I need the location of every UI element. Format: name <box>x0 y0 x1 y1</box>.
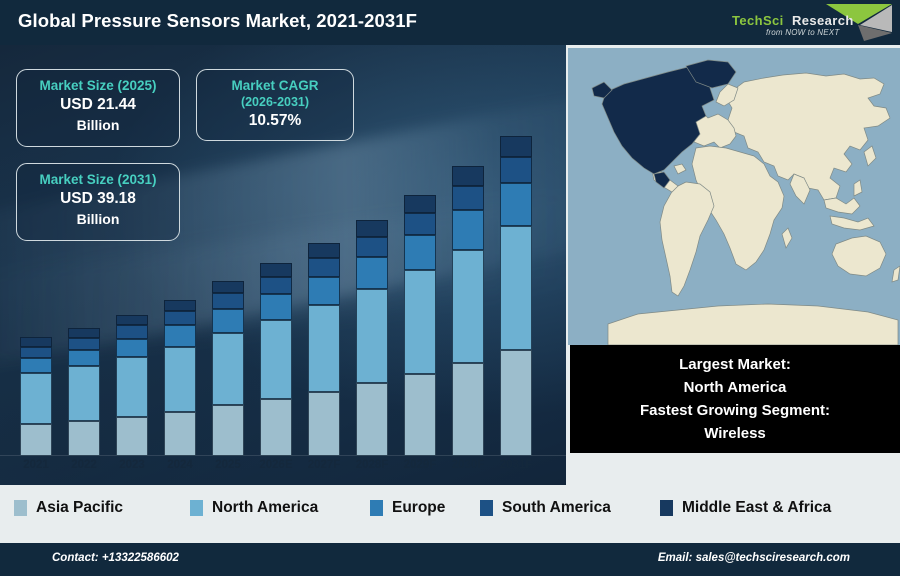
bar-segment-south-america <box>20 347 52 358</box>
legend-label: South America <box>502 499 611 517</box>
legend-item-europe[interactable]: Europe <box>370 499 445 517</box>
bar-segment-europe <box>116 339 148 358</box>
legend-label: Asia Pacific <box>36 499 123 517</box>
bar-segment-north-america <box>404 270 436 374</box>
bar-segment-south-america <box>116 325 148 338</box>
bar-segment-middle-east-africa <box>356 220 388 236</box>
fastest-segment-label: Fastest Growing Segment: <box>640 399 830 422</box>
bar-segment-south-america <box>452 186 484 210</box>
bar-segment-middle-east-africa <box>260 263 292 277</box>
logo-text-tech: TechSci <box>732 13 784 28</box>
bar-segment-south-america <box>260 277 292 294</box>
bar-segment-north-america <box>260 320 292 399</box>
bar-segment-north-america <box>68 366 100 421</box>
bar-segment-south-america <box>212 293 244 309</box>
highlights-box: Largest Market: North America Fastest Gr… <box>570 345 900 453</box>
bar-segment-north-america <box>164 347 196 412</box>
bar-segment-middle-east-africa <box>164 300 196 311</box>
page-title: Global Pressure Sensors Market, 2021-203… <box>18 10 417 32</box>
bar-2031F <box>500 136 532 456</box>
bar-segment-europe <box>356 257 388 289</box>
bar-segment-north-america <box>308 305 340 391</box>
bar-segment-middle-east-africa <box>308 243 340 258</box>
x-axis-label-2031F: 2031F <box>486 459 546 471</box>
largest-market-label: Largest Market: <box>679 353 791 376</box>
bar-2022 <box>68 328 100 456</box>
bar-2021 <box>20 337 52 456</box>
bar-segment-asia-pacific <box>20 424 52 456</box>
legend-label: Europe <box>392 499 445 517</box>
bar-segment-south-america <box>404 213 436 235</box>
bar-segment-europe <box>500 183 532 226</box>
bar-segment-middle-east-africa <box>116 315 148 326</box>
bar-segment-europe <box>212 309 244 333</box>
bar-segment-asia-pacific <box>68 421 100 456</box>
bar-segment-middle-east-africa <box>68 328 100 338</box>
bar-2030F <box>452 166 484 456</box>
bar-segment-europe <box>260 294 292 320</box>
legend-swatch-icon <box>370 500 383 516</box>
bar-segment-south-america <box>308 258 340 277</box>
bar-segment-north-america <box>452 250 484 363</box>
bar-2028F <box>356 220 388 456</box>
bar-segment-south-america <box>356 237 388 257</box>
bar-2024 <box>164 300 196 456</box>
world-map <box>568 48 900 345</box>
footer-bar: Contact: +13322586602 Email: sales@techs… <box>0 543 900 576</box>
bar-2026E <box>260 263 292 456</box>
bar-2027F <box>308 243 340 456</box>
world-map-svg <box>568 48 900 345</box>
bar-segment-south-america <box>68 338 100 350</box>
legend-item-south-america[interactable]: South America <box>480 499 611 517</box>
legend-label: Middle East & Africa <box>682 499 831 517</box>
footer-email: Email: sales@techsciresearch.com <box>658 552 850 564</box>
bar-2029F <box>404 195 436 456</box>
chart-panel: Market Size (2025) USD 21.44 Billion Mar… <box>0 45 566 485</box>
bar-segment-asia-pacific <box>308 392 340 456</box>
bar-segment-middle-east-africa <box>452 166 484 186</box>
bar-segment-asia-pacific <box>500 350 532 456</box>
bar-segment-north-america <box>20 373 52 424</box>
bar-segment-asia-pacific <box>212 405 244 456</box>
fastest-segment-value: Wireless <box>704 422 766 445</box>
header-bar: Global Pressure Sensors Market, 2021-203… <box>0 0 900 45</box>
techsci-research-logo: TechSci Research from NOW to NEXT <box>726 2 894 43</box>
bar-segment-asia-pacific <box>260 399 292 456</box>
bar-segment-middle-east-africa <box>20 337 52 347</box>
legend-label: North America <box>212 499 318 517</box>
bar-segment-asia-pacific <box>452 363 484 456</box>
bar-segment-middle-east-africa <box>404 195 436 213</box>
bar-segment-middle-east-africa <box>500 136 532 156</box>
logo-tagline: from NOW to NEXT <box>766 28 839 37</box>
footer-contact: Contact: +13322586602 <box>52 552 179 564</box>
bar-2023 <box>116 315 148 456</box>
legend-item-north-america[interactable]: North America <box>190 499 318 517</box>
bar-segment-europe <box>452 210 484 249</box>
infographic-root: Global Pressure Sensors Market, 2021-203… <box>0 0 900 576</box>
bar-segment-asia-pacific <box>116 417 148 456</box>
bar-segment-europe <box>404 235 436 270</box>
bar-segment-europe <box>308 277 340 306</box>
legend-swatch-icon <box>14 500 27 516</box>
bar-segment-north-america <box>212 333 244 406</box>
bar-segment-north-america <box>500 226 532 350</box>
bar-segment-asia-pacific <box>164 412 196 456</box>
bar-segment-europe <box>164 325 196 346</box>
largest-market-value: North America <box>684 376 787 399</box>
bar-segment-south-america <box>164 311 196 326</box>
bar-segment-north-america <box>116 357 148 417</box>
bar-segment-north-america <box>356 289 388 384</box>
chart-legend: Asia PacificNorth AmericaEuropeSouth Ame… <box>0 487 900 543</box>
bar-segment-asia-pacific <box>404 374 436 456</box>
logo-text-research: Research <box>792 13 854 28</box>
legend-swatch-icon <box>190 500 203 516</box>
legend-item-middle-east-africa[interactable]: Middle East & Africa <box>660 499 831 517</box>
legend-item-asia-pacific[interactable]: Asia Pacific <box>14 499 123 517</box>
bar-segment-south-america <box>500 157 532 183</box>
x-axis-labels: 202120222023202420252026E2027F2028F2029F… <box>0 459 566 479</box>
bar-segment-asia-pacific <box>356 383 388 456</box>
stacked-bar-chart: 202120222023202420252026E2027F2028F2029F… <box>0 45 566 485</box>
legend-swatch-icon <box>480 500 493 516</box>
bar-segment-europe <box>20 358 52 373</box>
bar-segment-europe <box>68 350 100 366</box>
legend-swatch-icon <box>660 500 673 516</box>
bar-2025 <box>212 281 244 456</box>
bar-segment-middle-east-africa <box>212 281 244 293</box>
